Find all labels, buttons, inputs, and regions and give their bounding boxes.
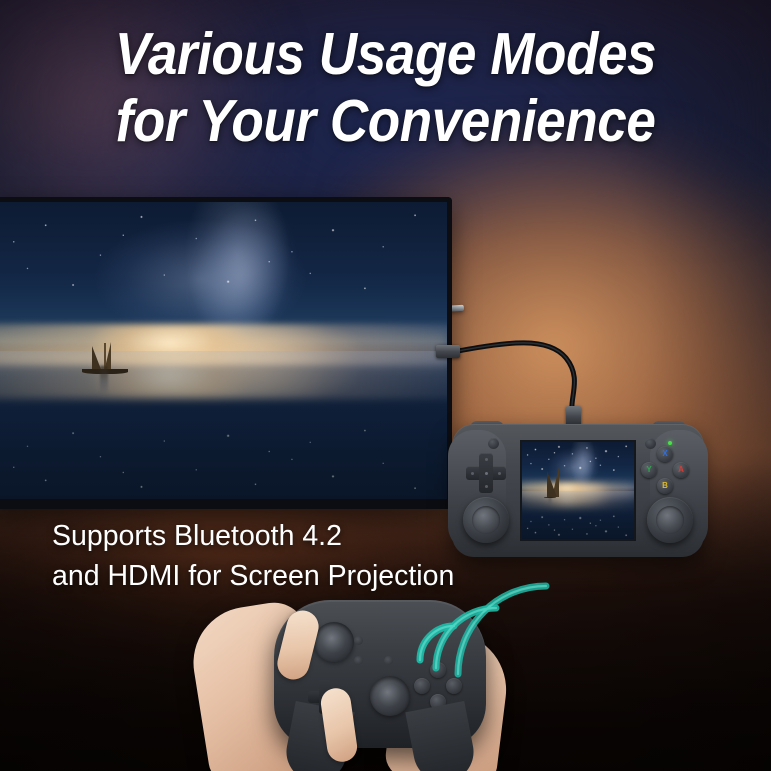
- headline-line-2: for Your Convenience: [62, 91, 709, 152]
- console-left-analog-stick[interactable]: [463, 497, 509, 543]
- button-b[interactable]: B: [657, 478, 673, 494]
- bt-wave-arc-3: [458, 586, 546, 674]
- controller-capture-button[interactable]: [354, 636, 363, 645]
- dpad-left-dot: [471, 472, 474, 475]
- marketing-poster: X Y A B: [0, 0, 771, 771]
- headline: Various Usage Modes for Your Convenience: [0, 24, 771, 152]
- tv-screen: [0, 202, 447, 499]
- console-sailboat-sail-back: [547, 471, 561, 497]
- console-face-buttons: X Y A B: [640, 446, 690, 496]
- feature-caption: Supports Bluetooth 4.2 and HDMI for Scre…: [52, 516, 454, 597]
- feature-caption-line-1: Supports Bluetooth 4.2: [52, 516, 454, 556]
- television: [0, 197, 452, 509]
- dpad-up-dot: [485, 458, 488, 461]
- sailboat-reflection: [100, 366, 109, 395]
- button-y[interactable]: Y: [641, 462, 657, 478]
- tv-bezel: [0, 197, 452, 509]
- tv-sailboat: [78, 318, 133, 395]
- button-x[interactable]: X: [657, 446, 673, 462]
- headline-line-1: Various Usage Modes: [62, 24, 709, 85]
- handheld-console: X Y A B: [452, 424, 704, 557]
- console-shell: X Y A B: [452, 424, 704, 557]
- power-led-icon: [668, 441, 672, 445]
- tv-water-sheen: [0, 351, 447, 500]
- dpad-down-dot: [485, 485, 488, 488]
- feature-caption-line-2: and HDMI for Screen Projection: [52, 556, 454, 596]
- console-screen: [520, 440, 636, 541]
- dpad-center-dot: [485, 472, 488, 475]
- controller-home-button[interactable]: [354, 656, 363, 665]
- controller-plus-button[interactable]: [384, 656, 393, 665]
- console-water-sheen: [522, 491, 634, 540]
- console-dpad[interactable]: [466, 453, 506, 493]
- console-sailboat-reflection: [549, 495, 551, 505]
- console-right-analog-stick[interactable]: [647, 497, 693, 543]
- button-a[interactable]: A: [673, 462, 689, 478]
- dpad-right-dot: [498, 472, 501, 475]
- tv-frame: [0, 197, 452, 509]
- console-sailboat: [543, 480, 556, 505]
- controller-left-stick[interactable]: [314, 622, 354, 662]
- controller-button-b[interactable]: [430, 694, 446, 710]
- console-select-button[interactable]: [488, 438, 499, 449]
